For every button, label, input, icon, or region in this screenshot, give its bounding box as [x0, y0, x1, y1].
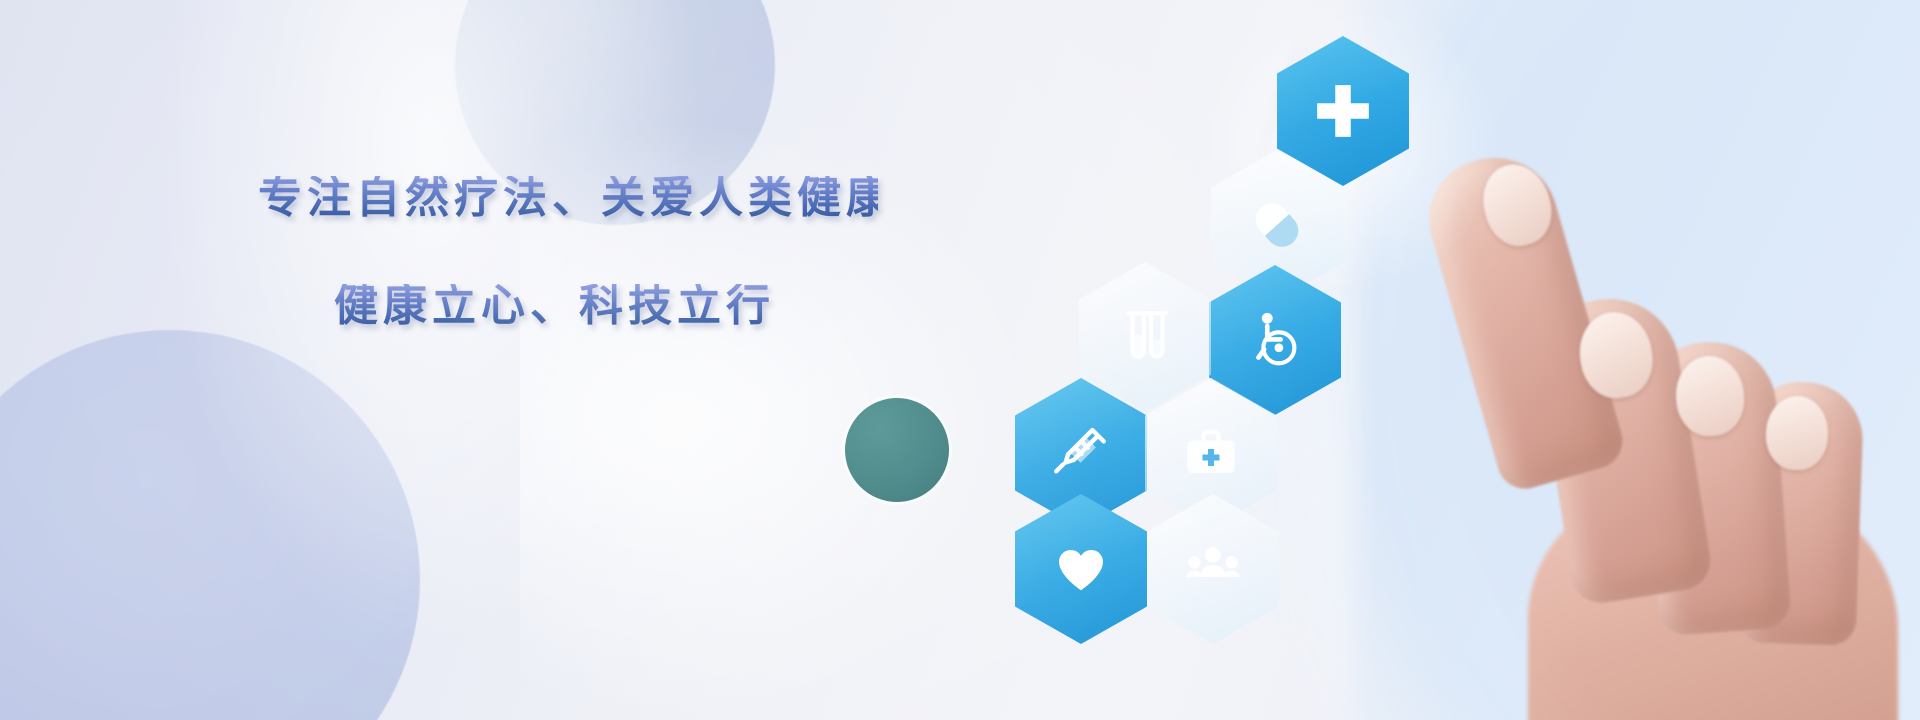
decorative-circle-bottom-left: [0, 330, 420, 720]
light-wash-left: [120, 0, 740, 720]
headline-line-2: 健康立心、科技立行: [334, 284, 878, 328]
headline-block: 专注自然疗法、关爱人类健康 健康立心、科技立行: [258, 176, 878, 328]
doctor-mouth-blurred: [1116, 192, 1202, 238]
headline-line-1: 专注自然疗法、关爱人类健康: [258, 176, 878, 220]
arc-edge-divider: [821, 0, 1920, 720]
photo-panel: [820, 0, 1920, 720]
healthcare-hero-banner: 专注自然疗法、关爱人类健康 健康立心、科技立行: [0, 0, 1920, 720]
